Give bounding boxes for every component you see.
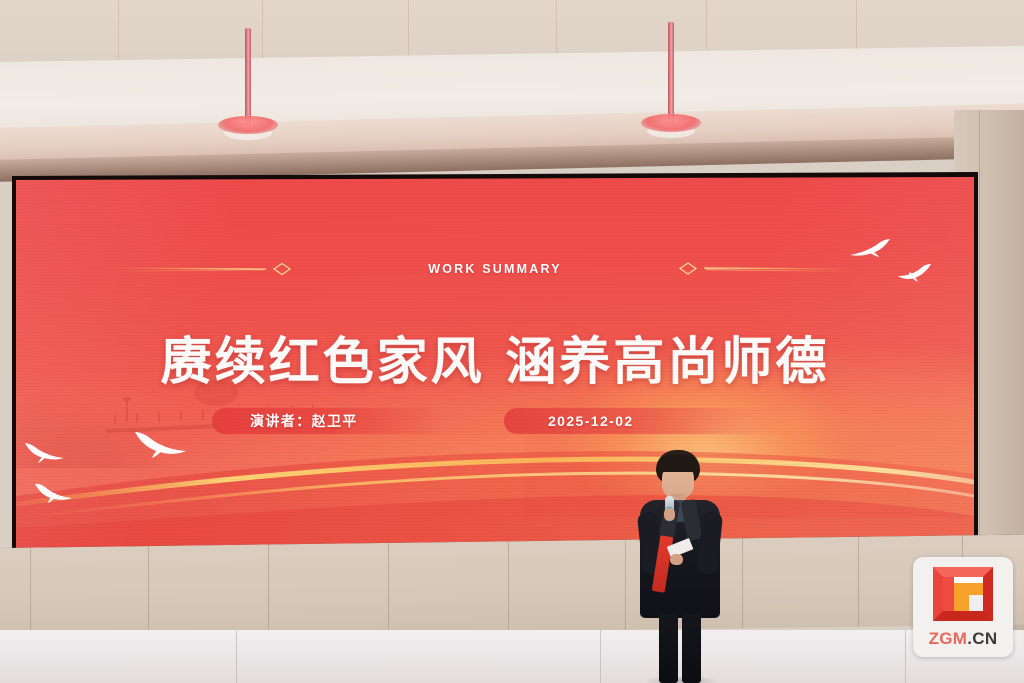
speaker-pill-text: 演讲者：赵卫平 <box>250 411 358 431</box>
dove-icon-left-3 <box>34 482 74 506</box>
presenter-leg-right <box>682 614 701 683</box>
presenter-leg-left <box>659 614 678 683</box>
floor-seam-2 <box>600 630 601 683</box>
gold-diamond-ornament-right <box>676 262 856 276</box>
sprinkler-left-fixture <box>218 28 278 126</box>
stage-lower-wall <box>0 535 1024 638</box>
presenter-fringe <box>658 455 698 472</box>
speaker-pill: 演讲者：赵卫平 <box>212 408 512 434</box>
zgm-tld-text: .CN <box>967 629 997 648</box>
screen-eyebrow-text: WORK SUMMARY <box>428 262 562 276</box>
sprinkler-right-fixture <box>640 22 702 124</box>
gold-wave-ribbons <box>16 378 974 558</box>
presenter-figure <box>626 450 736 683</box>
screen-main-title: 赓续红色家风 涵养高尚师德 <box>16 320 974 394</box>
date-pill: 2025-12-02 <box>504 408 794 434</box>
zgm-watermark-text: ZGM.CN <box>929 629 998 649</box>
gold-diamond-ornament-left <box>114 262 294 276</box>
dove-icon-left-2 <box>132 431 188 461</box>
floor-seam-3 <box>905 630 906 683</box>
date-pill-text: 2025-12-02 <box>548 413 634 429</box>
zgm-square-logo-icon <box>931 565 995 623</box>
dove-icon-left-1 <box>24 442 66 466</box>
photo-scene: WORK SUMMARY 赓续红色家风 涵养高尚师德 <box>0 0 1024 683</box>
led-screen[interactable]: WORK SUMMARY 赓续红色家风 涵养高尚师德 <box>16 176 974 558</box>
presenter-hand-mic <box>664 508 675 521</box>
zgm-brand-text: ZGM <box>929 629 968 648</box>
screen-pill-row: 演讲者：赵卫平 2025-12-02 <box>212 408 832 436</box>
screen-eyebrow-row: WORK SUMMARY <box>16 258 974 280</box>
floor-seam-1 <box>236 630 237 683</box>
presenter-hand-lower <box>670 554 683 565</box>
zgm-watermark[interactable]: ZGM.CN <box>913 557 1013 657</box>
stage-floor <box>0 630 1024 683</box>
